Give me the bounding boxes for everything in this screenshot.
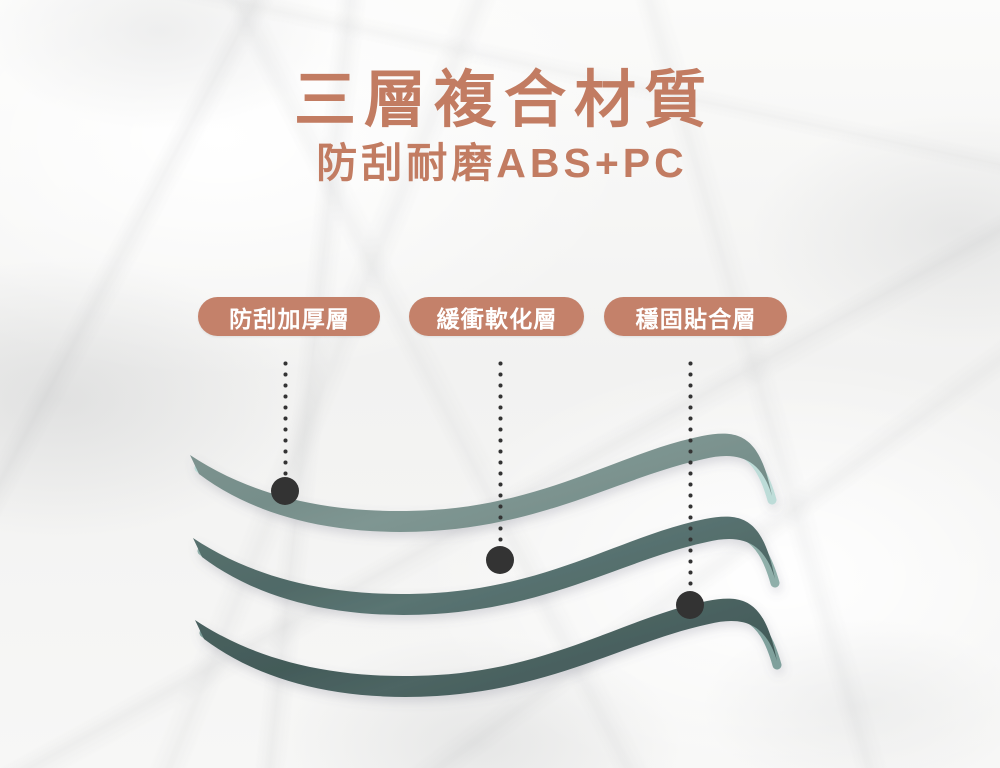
layer-label-2[interactable]: 緩衝軟化層: [409, 297, 584, 336]
infographic-canvas: 三層複合材質 防刮耐磨ABS+PC: [0, 0, 1000, 768]
leader-line-1: [283, 358, 288, 480]
leader-line-3: [688, 358, 693, 594]
layer-label-1[interactable]: 防刮加厚層: [198, 297, 380, 336]
leader-dot-2: [486, 546, 514, 574]
leader-dot-1: [271, 477, 299, 505]
leader-line-2: [498, 358, 503, 549]
leader-dot-3: [676, 591, 704, 619]
layer-label-3[interactable]: 穩固貼合層: [604, 297, 787, 336]
